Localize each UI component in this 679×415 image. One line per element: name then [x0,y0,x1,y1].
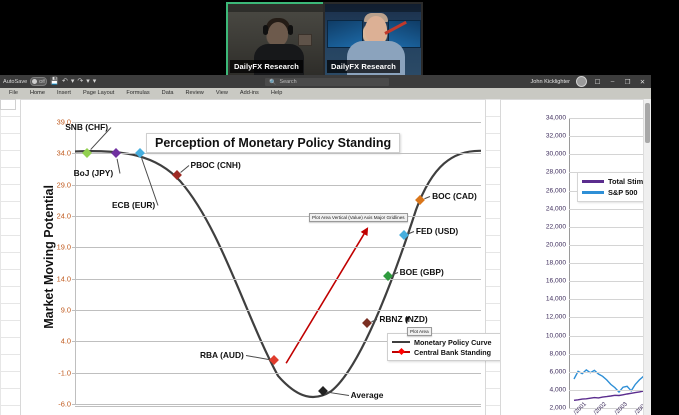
legend-marker-diamond [398,348,405,355]
video-conference-strip: DailyFX Research DailyFX Research [0,0,679,75]
y-axis-tick [72,153,75,154]
gridline [569,299,651,300]
gridline [569,390,651,391]
y-axis-tick-label: 12,000 [546,314,566,321]
video-shelf-2 [325,4,421,12]
y-axis-tick [72,373,75,374]
quick-access-toolbar: AutoSave Off 💾 ↶ ▾ ↷ ▾ ▾ [0,77,96,86]
data-point-label[interactable]: BoJ (JPY) [74,168,114,178]
y-axis-tick-label: 10,000 [546,332,566,339]
y-axis-tick-label: 2,000 [549,405,566,412]
y-axis-tick [72,279,75,280]
gridline [569,336,651,337]
gridline [569,136,651,137]
y-axis-tick-label: 30,000 [546,151,566,158]
chart-legend[interactable]: Monetary Policy Curve Central Bank Stand… [387,333,507,361]
autosave-label: AutoSave [3,79,27,85]
legend-swatch-marker [392,351,410,353]
headphone-right [288,25,293,35]
legend-swatch-sp500 [582,191,604,193]
person-2-head [365,16,387,43]
tab-review[interactable]: Review [180,88,210,99]
data-point-label[interactable]: RBA (AUD) [200,350,244,360]
y-axis-tick [72,341,75,342]
y-axis-tick-label: 32,000 [546,133,566,140]
data-point-label[interactable]: BOC (CAD) [432,191,477,201]
tooltip-gridlines: Plot Area Vertical (Value) Axis Major Gr… [309,213,408,222]
policy-curve-svg [75,122,481,404]
data-point-label[interactable]: ECB (EUR) [112,200,155,210]
y-axis-tick-label: 29.0 [57,180,71,189]
ribbon-display-options-icon[interactable]: ☐ [593,78,602,86]
y-axis-tick-label: 26,000 [546,187,566,194]
chart-monetary-policy[interactable]: Market Moving Potential Perception of Mo… [20,99,486,415]
data-point-label[interactable]: Average [351,390,384,400]
y-axis-tick-label: 4,000 [549,386,566,393]
sheet-col-line [0,99,1,415]
restore-button[interactable]: ❐ [623,78,632,86]
gridline [75,216,481,217]
category-axis-line [75,406,481,407]
tab-data[interactable]: Data [156,88,180,99]
y-axis-tick-label: 24.0 [57,212,71,221]
y-axis-tick-label: -1.0 [58,368,71,377]
autosave-knob [32,79,37,84]
y-axis-tick [72,185,75,186]
legend-entry-standing[interactable]: Central Bank Standing [392,347,502,357]
gridline [75,122,481,123]
search-placeholder: Search [279,79,296,85]
data-point-label[interactable]: BOE (GBP) [400,267,444,277]
headphone-left [263,25,268,35]
tab-help[interactable]: Help [265,88,289,99]
y-axis-tick-label: 6,000 [549,368,566,375]
plot-area-secondary[interactable]: 34,00032,00030,00028,00026,00024,00022,0… [569,118,651,408]
gridline [569,154,651,155]
y-axis-tick [72,310,75,311]
y-axis-tick-label: 34.0 [57,149,71,158]
y-axis-tick-label: 28,000 [546,169,566,176]
chart-total-stimulus[interactable]: 34,00032,00030,00028,00026,00024,00022,0… [500,99,651,415]
y-axis-tick-label: 16,000 [546,278,566,285]
search-icon: 🔍 [269,79,276,86]
tab-home[interactable]: Home [24,88,51,99]
gridline [75,279,481,280]
video-tile-label: DailyFX Research [230,60,303,73]
worksheet-area[interactable]: Market Moving Potential Perception of Mo… [0,99,651,415]
data-point-label[interactable]: FED (USD) [416,226,458,236]
avatar[interactable] [576,76,587,87]
gridline [569,245,651,246]
search-box[interactable]: 🔍 Search [265,78,389,86]
legend-secondary[interactable]: Total Stim S&P 500 [577,172,651,202]
gridline [569,263,651,264]
legend-label: Monetary Policy Curve [414,338,492,347]
tab-page-layout[interactable]: Page Layout [77,88,120,99]
gridline [75,404,481,405]
y-axis-tick-label: 14,000 [546,296,566,303]
gridline [569,354,651,355]
y-axis-tick-label: -6.0 [58,400,71,409]
undo-icon[interactable]: ↶ [62,78,68,85]
autosave-state: Off [39,78,45,85]
y-axis-tick-label: 24,000 [546,205,566,212]
series-line [574,366,651,392]
tab-view[interactable]: View [210,88,234,99]
trend-arrow [286,229,367,364]
y-axis-tick [72,216,75,217]
autosave-switch[interactable]: Off [30,77,47,86]
gridline [75,373,481,374]
legend-label: S&P 500 [608,188,637,197]
close-button[interactable]: ✕ [638,78,647,86]
legend-label: Central Bank Standing [414,348,491,357]
video-tile-2[interactable]: DailyFX Research [323,2,423,77]
customize-qat-icon[interactable]: ▾ [93,78,97,85]
y-axis-title: Market Moving Potential [42,185,56,329]
tab-file[interactable]: File [3,88,24,99]
y-axis-tick-label: 9.0 [61,306,71,315]
y-axis-tick-label: 18,000 [546,260,566,267]
gridline [569,227,651,228]
gridline [569,317,651,318]
gridline [569,281,651,282]
gridline [75,310,481,311]
ribbon-tabs: File Home Insert Page Layout Formulas Da… [0,88,651,99]
gridline [75,247,481,248]
tab-insert[interactable]: Insert [51,88,77,99]
legend-entry-total-stim[interactable]: Total Stim [582,176,651,187]
person-1-head [268,22,288,46]
video-tile-1[interactable]: DailyFX Research [226,2,326,77]
legend-entry-curve[interactable]: Monetary Policy Curve [392,337,502,347]
tab-add-ins[interactable]: Add-ins [234,88,265,99]
chevron-down-icon-2[interactable]: ▾ [86,78,90,85]
y-axis-tick-label: 19.0 [57,243,71,252]
excel-window: AutoSave Off 💾 ↶ ▾ ↷ ▾ ▾ Videos_12.20.20… [0,75,651,415]
y-axis-tick [72,247,75,248]
data-point-label[interactable]: PBOC (CNH) [191,160,241,170]
autosave-toggle[interactable]: AutoSave Off [3,77,47,86]
name-box[interactable] [0,99,16,110]
title-bar-right: John Kicklighter ☐ – ❐ ✕ [531,76,652,87]
y-axis-tick-label: 34,000 [546,115,566,122]
gridline [569,118,651,119]
y-axis-tick-label: 14.0 [57,274,71,283]
redo-icon[interactable]: ↷ [77,78,83,85]
data-point-label[interactable]: RBNZ (NZD) [379,314,427,324]
wall-picture [298,34,312,46]
gridline [569,372,651,373]
y-axis-tick-label: 22,000 [546,223,566,230]
scrollbar-thumb[interactable] [645,103,650,143]
video-tile-label: DailyFX Research [327,60,400,73]
y-axis-tick [72,404,75,405]
gridline [569,209,651,210]
tab-formulas[interactable]: Formulas [120,88,155,99]
y-axis-tick-label: 4.0 [61,337,71,346]
legend-swatch-line [392,341,410,343]
gridline [75,185,481,186]
screen-root: DailyFX Research DailyFX Research AutoSa… [0,0,679,415]
y-axis-tick-label: 20,000 [546,241,566,248]
tooltip-plot-area: Plot Area [407,327,432,336]
vertical-scrollbar[interactable] [643,99,651,415]
y-axis-tick-label: 8,000 [549,350,566,357]
data-point-label[interactable]: SNB (CHF) [65,122,108,132]
minimize-button[interactable]: – [608,78,617,85]
legend-swatch-total-stim [582,180,604,182]
chevron-down-icon[interactable]: ▾ [71,78,75,85]
series-line [574,386,651,401]
legend-entry-sp500[interactable]: S&P 500 [582,187,651,198]
save-icon[interactable]: 💾 [50,78,59,85]
account-name[interactable]: John Kicklighter [531,79,571,85]
plot-area[interactable]: 39.034.029.024.019.014.09.04.0-1.0-6.0SN… [75,122,481,404]
video-shelf-1 [228,4,324,12]
legend-label: Total Stim [608,177,643,186]
